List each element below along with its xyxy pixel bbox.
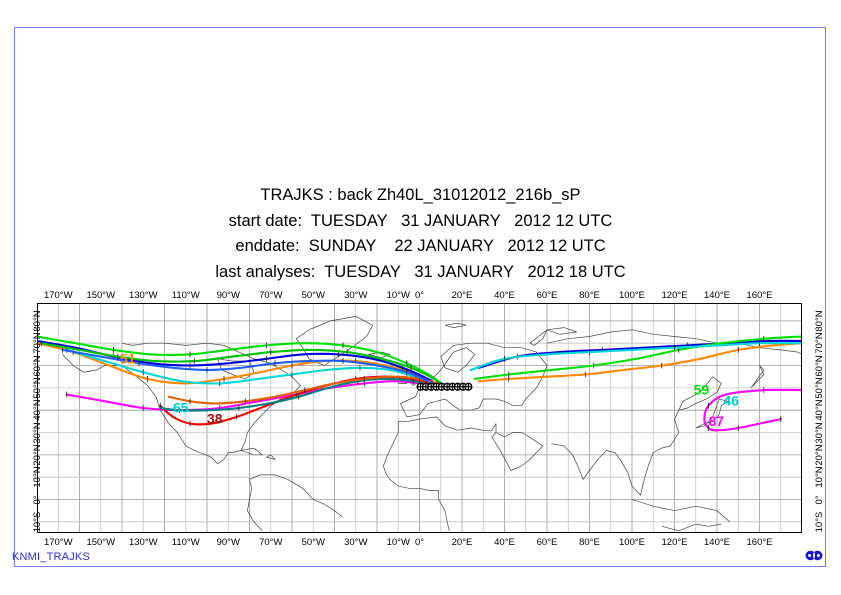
lat-tick-left-30: 30°N xyxy=(32,422,43,443)
lon-tick-top--10: 10°W xyxy=(387,290,410,301)
title-line-3: enddate: SUNDAY 22 JANUARY 2012 12 UTC xyxy=(0,234,841,260)
lat-tick-left-70: 70°N xyxy=(32,333,43,354)
lon-tick-top--30: 30°W xyxy=(344,290,367,301)
lon-tick-bottom-40: 40°E xyxy=(494,537,515,548)
map-border xyxy=(37,303,802,533)
lat-tick-left-0: 0° xyxy=(32,495,43,504)
lon-tick-top-20: 20°E xyxy=(452,290,473,301)
lat-tick-right-20: 20°N xyxy=(814,444,825,465)
lat-tick-right-40: 40°N xyxy=(814,400,825,421)
lon-tick-bottom--10: 10°W xyxy=(387,537,410,548)
title-block: TRAJKS : back Zh40L_31012012_216b_sP sta… xyxy=(0,183,841,285)
lon-tick-top-40: 40°E xyxy=(494,290,515,301)
lon-tick-top--50: 50°W xyxy=(302,290,325,301)
lon-tick-top-60: 60°E xyxy=(537,290,558,301)
lon-tick-bottom--110: 110°W xyxy=(172,537,200,548)
lat-tick-left-80: 80°N xyxy=(32,310,43,331)
lon-tick-bottom--90: 90°W xyxy=(217,537,240,548)
lon-tick-top--90: 90°W xyxy=(217,290,240,301)
lat-tick-right-60: 60°N xyxy=(814,355,825,376)
lon-tick-top-80: 80°E xyxy=(579,290,600,301)
lon-tick-bottom-0: 0° xyxy=(415,537,424,548)
lat-tick-left-10: 10°N xyxy=(32,467,43,488)
lat-tick-right--10: 10°S xyxy=(814,511,825,532)
lat-tick-left-40: 40°N xyxy=(32,400,43,421)
lon-tick-top-140: 140°E xyxy=(704,290,730,301)
lon-tick-bottom--150: 150°W xyxy=(86,537,115,548)
lat-tick-right-70: 70°N xyxy=(814,333,825,354)
trajectory-map[interactable]: 516538594687 xyxy=(37,303,802,533)
lon-tick-bottom-100: 100°E xyxy=(619,537,645,548)
knmi-tag: KNMI_TRAJKS xyxy=(12,551,90,563)
lon-tick-bottom-120: 120°E xyxy=(662,537,688,548)
lat-tick-right-10: 10°N xyxy=(814,467,825,488)
lat-tick-left-60: 60°N xyxy=(32,355,43,376)
lat-tick-left--10: 10°S xyxy=(32,511,43,532)
ecmwf-logo xyxy=(802,548,826,568)
lon-tick-top-100: 100°E xyxy=(619,290,645,301)
lon-tick-top--110: 110°W xyxy=(172,290,200,301)
title-line-1: TRAJKS : back Zh40L_31012012_216b_sP xyxy=(0,183,841,209)
lon-tick-top--130: 130°W xyxy=(129,290,158,301)
lon-tick-top-120: 120°E xyxy=(662,290,688,301)
lon-tick-top--170: 170°W xyxy=(44,290,73,301)
title-line-2: start date: TUESDAY 31 JANUARY 2012 12 U… xyxy=(0,209,841,235)
lon-tick-top--150: 150°W xyxy=(86,290,115,301)
lon-tick-bottom-80: 80°E xyxy=(579,537,600,548)
title-line-4: last analyses: TUESDAY 31 JANUARY 2012 1… xyxy=(0,260,841,286)
lat-tick-left-50: 50°N xyxy=(32,377,43,398)
lon-tick-top-0: 0° xyxy=(415,290,424,301)
lon-tick-top-160: 160°E xyxy=(747,290,773,301)
lat-tick-left-20: 20°N xyxy=(32,444,43,465)
lon-tick-bottom--30: 30°W xyxy=(344,537,367,548)
lat-tick-right-30: 30°N xyxy=(814,422,825,443)
lon-tick-bottom--130: 130°W xyxy=(129,537,158,548)
lon-tick-bottom-160: 160°E xyxy=(747,537,773,548)
lat-tick-right-50: 50°N xyxy=(814,377,825,398)
lat-tick-right-80: 80°N xyxy=(814,310,825,331)
lon-tick-top--70: 70°W xyxy=(259,290,282,301)
lon-tick-bottom--170: 170°W xyxy=(44,537,73,548)
lon-tick-bottom-140: 140°E xyxy=(704,537,730,548)
lon-tick-bottom-60: 60°E xyxy=(537,537,558,548)
lon-tick-bottom--50: 50°W xyxy=(302,537,325,548)
lon-tick-bottom-20: 20°E xyxy=(452,537,473,548)
lat-tick-right-0: 0° xyxy=(814,495,825,504)
lon-tick-bottom--70: 70°W xyxy=(259,537,282,548)
